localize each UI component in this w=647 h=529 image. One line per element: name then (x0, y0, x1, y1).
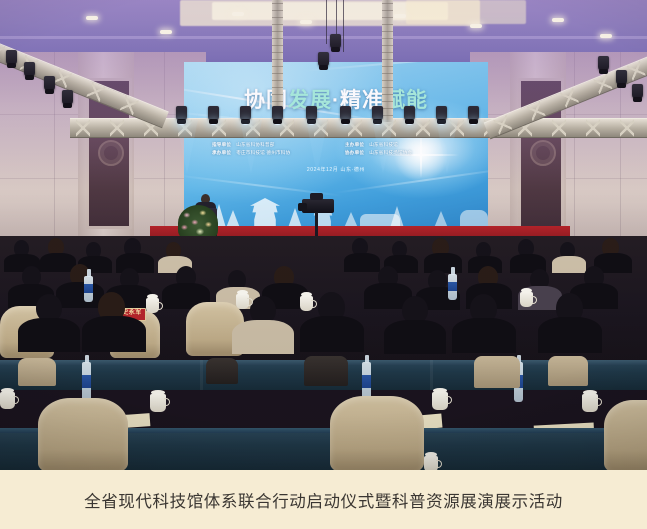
water-bottle (448, 274, 457, 300)
stage-light-9 (436, 106, 447, 121)
caption-bar: 全省现代科技馆体系联合行动启动仪式暨科普资源展演展示活动 (0, 470, 647, 529)
stage-light-3 (240, 106, 251, 121)
stage-light-right-2 (616, 70, 627, 85)
chair (38, 398, 128, 470)
stage-light-5 (306, 106, 317, 121)
stage-light-left-3 (44, 76, 55, 91)
chair (330, 396, 424, 470)
stage-light-left-2 (24, 62, 35, 77)
organizer-role-1: 主办单位 (345, 142, 364, 147)
teacup (432, 392, 448, 410)
rig-cable-2 (343, 0, 344, 52)
audience-seating: 史永军 (0, 236, 647, 376)
screenshot-root: 协同发展·精准赋能 全省现代科技馆体系联合行动启动仪式暨科普资源展演展示活动 指… (0, 0, 647, 529)
water-bottle (84, 276, 93, 302)
teacup (146, 298, 159, 313)
stage-light-left-4 (62, 90, 73, 105)
tripod-column (315, 212, 318, 238)
stage-light-left-1 (6, 50, 17, 65)
stage-light-10 (468, 106, 479, 121)
rig-cable-3 (326, 0, 327, 44)
water-bottle (82, 362, 91, 402)
video-camera-lens (298, 203, 307, 211)
conference-photo: 协同发展·精准赋能 全省现代科技馆体系联合行动启动仪式暨科普资源展演展示活动 指… (0, 0, 647, 470)
teacup (520, 292, 533, 307)
draped-coat (304, 356, 348, 386)
truss-vertical-right (382, 0, 393, 122)
headline-part-3: · (332, 89, 340, 112)
draped-coat (548, 356, 588, 386)
stage-light-1 (176, 106, 187, 121)
organizer-role-2: 承办单位 (212, 150, 231, 155)
draped-coat (206, 358, 238, 384)
stage-light-right-1 (598, 56, 609, 71)
stage-light-11 (330, 34, 341, 49)
teacup (0, 392, 15, 409)
stage-light-right-3 (632, 84, 643, 99)
teacup (582, 394, 598, 412)
caption-title: 全省现代科技馆体系联合行动启动仪式暨科普资源展演展示活动 (84, 488, 563, 512)
draped-coat (474, 356, 520, 388)
teacup (424, 456, 438, 470)
chair (604, 400, 647, 470)
truss-vertical-left (272, 0, 283, 122)
rig-cable-1 (336, 0, 337, 36)
teacup (236, 294, 249, 309)
stage-light-4 (272, 106, 283, 121)
organizer-role-3: 协办单位 (345, 150, 364, 155)
organizer-role-0: 指导单位 (212, 142, 231, 147)
stage-light-8 (404, 106, 415, 121)
stage-light-2 (208, 106, 219, 121)
teacup (150, 394, 166, 412)
stage-light-12 (318, 52, 329, 67)
draped-coat (18, 358, 56, 386)
stage-light-6 (340, 106, 351, 121)
stage-light-7 (372, 106, 383, 121)
teacup (300, 296, 313, 311)
video-camera-viewfinder (310, 193, 323, 200)
